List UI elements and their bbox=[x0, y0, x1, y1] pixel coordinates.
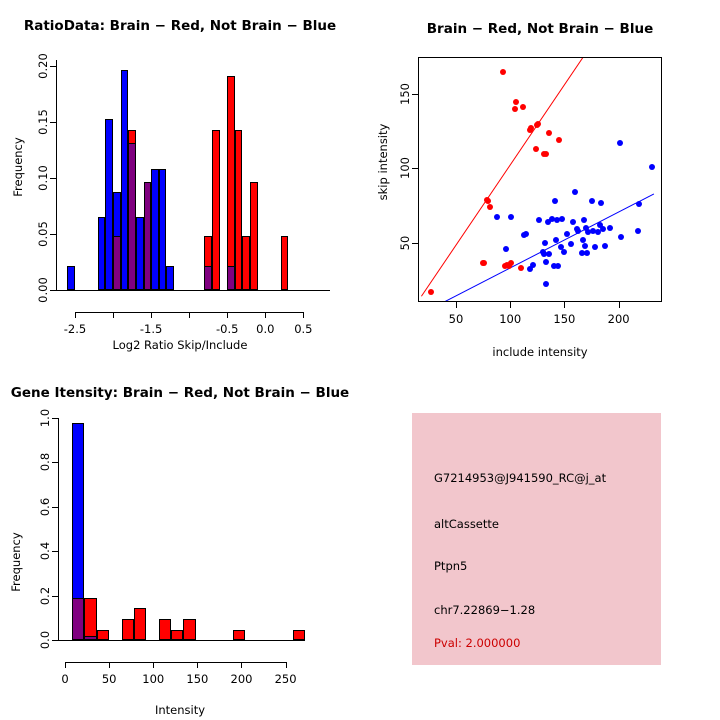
gene-baseline bbox=[58, 640, 305, 641]
scatter-point-not-brain bbox=[523, 231, 529, 237]
ratio-y-tick-label: 0.05 bbox=[36, 219, 50, 249]
ratio-bar-not-brain bbox=[67, 266, 75, 290]
gene-bar-brain bbox=[122, 619, 134, 640]
gene-x-tick-label: 50 bbox=[89, 672, 129, 686]
ratio-x-tick-label: 0.0 bbox=[245, 322, 285, 336]
scatter-fit-line-brain bbox=[421, 58, 584, 297]
scatter-point-not-brain bbox=[592, 244, 598, 250]
ratio-bar-not-brain bbox=[166, 266, 174, 290]
scatter-point-not-brain bbox=[570, 219, 576, 225]
ratio-y-axis bbox=[56, 60, 57, 290]
figure-canvas: RatioData: Brain − Red, Not Brain − Blue… bbox=[0, 0, 720, 720]
info-event-type: altCassette bbox=[434, 517, 499, 531]
scatter-point-not-brain bbox=[552, 198, 558, 204]
scatter-point-not-brain bbox=[564, 231, 570, 237]
scatter-point-not-brain bbox=[559, 216, 565, 222]
ratio-y-tick bbox=[50, 234, 56, 235]
scatter-point-brain bbox=[518, 265, 524, 271]
scatter-point-not-brain bbox=[546, 251, 552, 257]
ratio-y-tick bbox=[50, 66, 56, 67]
scatter-point-not-brain bbox=[561, 249, 567, 255]
ratio-bar-brain bbox=[281, 236, 289, 290]
scatter-plot-area: 5010015020050100150 bbox=[360, 0, 720, 360]
ratio-x-tick-label: -1.5 bbox=[131, 322, 171, 336]
gene-bar-brain bbox=[233, 630, 245, 640]
ratio-y-tick-label: 0.10 bbox=[36, 163, 50, 193]
gene-x-tick bbox=[241, 662, 242, 668]
scatter-x-tick bbox=[456, 302, 457, 308]
scatter-y-tick-label: 150 bbox=[398, 79, 412, 109]
ratio-histogram-plot-area: 0.000.050.100.150.20-2.5-1.5-0.50.00.5 bbox=[0, 0, 360, 360]
gene-x-tick bbox=[109, 662, 110, 668]
scatter-point-not-brain bbox=[618, 234, 624, 240]
gene-x-tick-label: 0 bbox=[45, 672, 85, 686]
ratio-y-tick-label: 0.00 bbox=[36, 275, 50, 305]
gene-histogram-plot-area: 0.00.20.40.60.81.0050100150200250 bbox=[0, 360, 360, 720]
scatter-point-not-brain bbox=[580, 237, 586, 243]
ratio-bar-overlap bbox=[144, 182, 152, 290]
gene-x-tick bbox=[153, 662, 154, 668]
scatter-point-not-brain bbox=[635, 228, 641, 234]
scatter-x-tick-label: 200 bbox=[599, 312, 639, 326]
scatter-point-not-brain bbox=[636, 201, 642, 207]
scatter-point-not-brain bbox=[543, 281, 549, 287]
scatter-y-tick bbox=[412, 168, 418, 169]
scatter-point-not-brain bbox=[553, 237, 559, 243]
ratio-x-tick bbox=[75, 312, 76, 318]
scatter-point-not-brain bbox=[617, 140, 623, 146]
panel-ratio-histogram: RatioData: Brain − Red, Not Brain − Blue… bbox=[0, 0, 360, 360]
gene-x-tick bbox=[197, 662, 198, 668]
scatter-x-tick-label: 100 bbox=[490, 312, 530, 326]
ratio-bar-not-brain bbox=[151, 169, 159, 290]
gene-y-axis bbox=[58, 418, 59, 640]
info-probe-id: G7214953@J941590_RC@j_at bbox=[434, 471, 606, 485]
scatter-point-not-brain bbox=[572, 189, 578, 195]
gene-x-tick-label: 150 bbox=[177, 672, 217, 686]
gene-bar-brain bbox=[159, 619, 171, 640]
scatter-point-not-brain bbox=[568, 241, 574, 247]
ratio-bar-overlap bbox=[113, 236, 121, 290]
ratio-x-tick bbox=[265, 312, 266, 318]
scatter-point-not-brain bbox=[589, 198, 595, 204]
scatter-x-tick bbox=[619, 302, 620, 308]
scatter-point-not-brain bbox=[607, 225, 613, 231]
ratio-y-tick-label: 0.15 bbox=[36, 107, 50, 137]
gene-y-tick-label: 0.4 bbox=[38, 536, 52, 566]
ratio-x-tick-label: 0.5 bbox=[283, 322, 323, 336]
scatter-x-tick bbox=[564, 302, 565, 308]
ratio-x-tick bbox=[303, 312, 304, 318]
gene-bar-brain bbox=[84, 598, 96, 640]
gene-y-tick bbox=[52, 507, 58, 508]
gene-y-tick-label: 0.8 bbox=[38, 447, 52, 477]
panel-gene-histogram: Gene Itensity: Brain − Red, Not Brain − … bbox=[0, 360, 360, 720]
gene-bar-overlap bbox=[72, 598, 84, 640]
gene-x-tick-label: 200 bbox=[221, 672, 261, 686]
ratio-y-tick bbox=[50, 178, 56, 179]
gene-y-tick bbox=[52, 596, 58, 597]
scatter-point-not-brain bbox=[584, 250, 590, 256]
ratio-bar-not-brain bbox=[121, 70, 129, 290]
ratio-bar-not-brain bbox=[159, 169, 167, 290]
scatter-point-brain bbox=[487, 204, 493, 210]
gene-info-box: G7214953@J941590_RC@j_at altCassette Ptp… bbox=[412, 413, 661, 665]
ratio-x-tick-label: -2.5 bbox=[55, 322, 95, 336]
scatter-point-not-brain bbox=[575, 228, 581, 234]
gene-y-tick-label: 0.6 bbox=[38, 492, 52, 522]
scatter-point-not-brain bbox=[542, 240, 548, 246]
ratio-x-tick bbox=[227, 312, 228, 318]
scatter-point-brain bbox=[520, 104, 526, 110]
ratio-bar-brain bbox=[250, 182, 258, 290]
ratio-bar-overlap bbox=[128, 143, 136, 290]
scatter-y-axis-label: skip intensity bbox=[376, 117, 390, 207]
scatter-interior bbox=[419, 58, 661, 301]
gene-bar-brain bbox=[293, 630, 305, 640]
scatter-point-brain bbox=[556, 137, 562, 143]
scatter-point-brain bbox=[481, 260, 487, 266]
scatter-point-not-brain bbox=[649, 164, 655, 170]
scatter-y-tick bbox=[412, 94, 418, 95]
info-gene-symbol: Ptpn5 bbox=[434, 559, 467, 573]
scatter-point-not-brain bbox=[602, 243, 608, 249]
scatter-y-tick bbox=[412, 243, 418, 244]
gene-y-tick bbox=[52, 551, 58, 552]
gene-y-tick bbox=[52, 418, 58, 419]
info-locus: chr7.22869−1.28 bbox=[434, 603, 535, 617]
scatter-point-not-brain bbox=[494, 214, 500, 220]
gene-histogram-x-axis-label: Intensity bbox=[0, 703, 360, 717]
ratio-bar-brain bbox=[227, 76, 235, 290]
scatter-point-not-brain bbox=[555, 263, 561, 269]
ratio-y-tick bbox=[50, 122, 56, 123]
scatter-point-brain bbox=[533, 146, 539, 152]
scatter-point-brain bbox=[535, 121, 541, 127]
panel-scatter: Brain − Red, Not Brain − Blue 5010015020… bbox=[360, 0, 720, 360]
ratio-x-tick bbox=[151, 312, 152, 318]
scatter-point-brain bbox=[513, 99, 519, 105]
gene-y-tick bbox=[52, 462, 58, 463]
gene-histogram-y-axis-label: Frequency bbox=[9, 522, 23, 602]
ratio-bar-brain bbox=[242, 236, 250, 290]
scatter-point-not-brain bbox=[598, 200, 604, 206]
scatter-x-tick-label: 50 bbox=[436, 312, 476, 326]
scatter-point-not-brain bbox=[503, 246, 509, 252]
gene-bar-brain bbox=[97, 630, 109, 640]
gene-x-axis bbox=[65, 662, 286, 663]
scatter-point-not-brain bbox=[600, 226, 606, 232]
ratio-bar-overlap bbox=[204, 266, 212, 290]
scatter-point-not-brain bbox=[536, 217, 542, 223]
ratio-bar-brain bbox=[212, 130, 220, 290]
scatter-y-tick-label: 50 bbox=[398, 228, 412, 258]
scatter-point-brain bbox=[428, 289, 434, 295]
scatter-point-brain bbox=[500, 69, 506, 75]
gene-y-tick-label: 0.0 bbox=[38, 625, 52, 655]
gene-bar-overlap bbox=[84, 636, 96, 640]
scatter-x-tick bbox=[510, 302, 511, 308]
scatter-point-not-brain bbox=[508, 214, 514, 220]
ratio-bar-not-brain bbox=[136, 217, 144, 290]
ratio-bar-not-brain bbox=[105, 119, 113, 290]
ratio-histogram-y-axis-label: Frequency bbox=[11, 127, 25, 207]
gene-bar-brain bbox=[134, 608, 146, 640]
ratio-x-tick bbox=[113, 312, 114, 318]
scatter-x-tick-label: 150 bbox=[544, 312, 584, 326]
scatter-point-brain bbox=[512, 106, 518, 112]
info-pval: Pval: 2.000000 bbox=[434, 636, 520, 650]
ratio-bar-brain bbox=[235, 130, 243, 290]
gene-x-tick bbox=[65, 662, 66, 668]
scatter-point-not-brain bbox=[582, 243, 588, 249]
ratio-histogram-x-axis-label: Log2 Ratio Skip/Include bbox=[0, 338, 360, 352]
ratio-y-tick-label: 0.20 bbox=[36, 51, 50, 81]
scatter-point-brain bbox=[546, 130, 552, 136]
scatter-x-axis-label: include intensity bbox=[360, 345, 720, 359]
gene-x-tick-label: 100 bbox=[133, 672, 173, 686]
scatter-point-not-brain bbox=[581, 217, 587, 223]
gene-bar-brain bbox=[183, 619, 195, 640]
gene-y-tick-label: 0.2 bbox=[38, 581, 52, 611]
ratio-x-tick-label: -0.5 bbox=[207, 322, 247, 336]
ratio-bar-not-brain bbox=[98, 217, 106, 290]
scatter-y-tick-label: 100 bbox=[398, 153, 412, 183]
gene-x-tick bbox=[286, 662, 287, 668]
ratio-baseline bbox=[56, 290, 330, 291]
gene-bar-brain bbox=[171, 630, 183, 640]
gene-y-tick-label: 1.0 bbox=[38, 403, 52, 433]
ratio-x-tick bbox=[189, 312, 190, 318]
ratio-bar-overlap bbox=[227, 266, 235, 290]
scatter-point-not-brain bbox=[543, 259, 549, 265]
gene-x-tick-label: 250 bbox=[266, 672, 306, 686]
scatter-point-not-brain bbox=[530, 262, 536, 268]
scatter-point-brain bbox=[543, 151, 549, 157]
